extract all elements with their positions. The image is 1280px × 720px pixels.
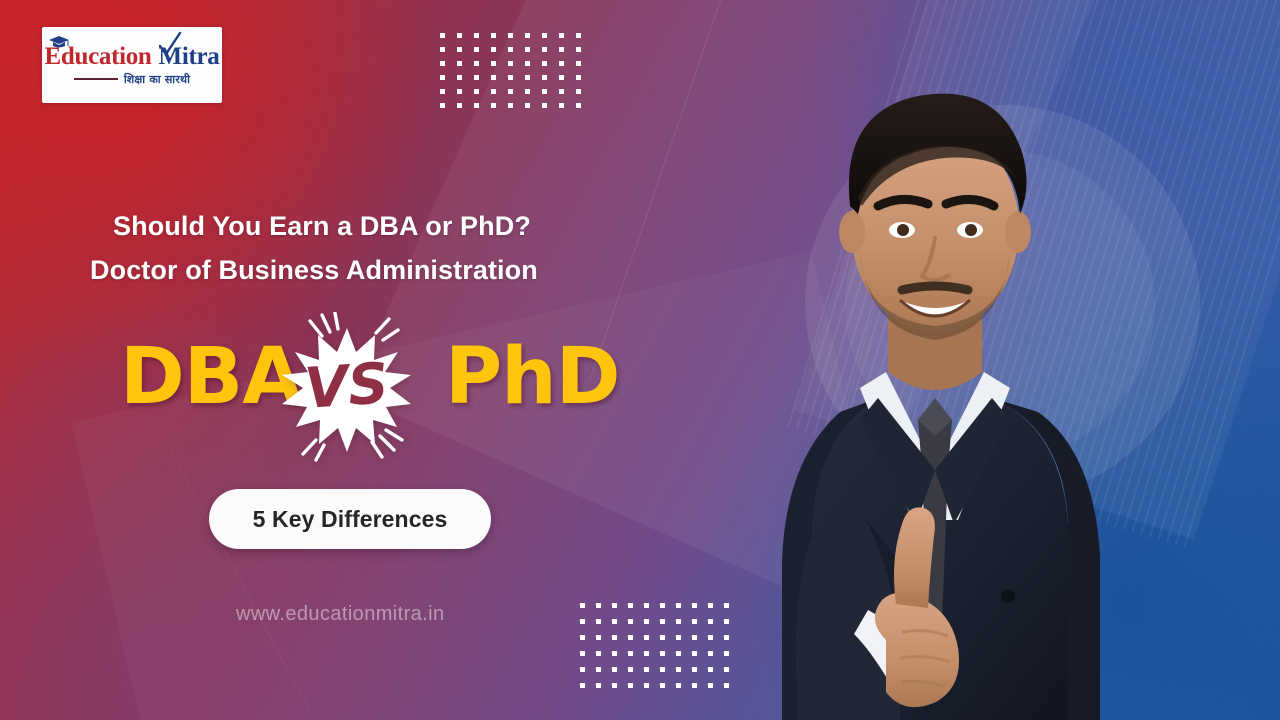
grid-dot (508, 33, 513, 38)
grid-dot (440, 33, 445, 38)
grid-dot (660, 683, 665, 688)
grid-dot (525, 47, 530, 52)
grid-dot (491, 61, 496, 66)
grid-dot (628, 619, 633, 624)
grid-dot (525, 61, 530, 66)
background-line-c (166, 441, 336, 720)
grid-dot (596, 651, 601, 656)
vs-text: VS (303, 351, 391, 422)
grid-dot (612, 683, 617, 688)
grid-dot (474, 47, 479, 52)
grid-dot (542, 89, 547, 94)
grid-dot (474, 33, 479, 38)
grid-dot (440, 103, 445, 108)
grid-dot (559, 89, 564, 94)
website-url[interactable]: www.educationmitra.in (236, 603, 445, 626)
grid-dot (676, 603, 681, 608)
grid-dot (644, 635, 649, 640)
grid-dot (596, 683, 601, 688)
grid-dot (644, 651, 649, 656)
grid-dot (457, 103, 462, 108)
grid-dot (660, 635, 665, 640)
grid-dot (580, 651, 585, 656)
grid-dot (612, 651, 617, 656)
grid-dot (612, 603, 617, 608)
versus-right-label: PhD (445, 338, 619, 416)
grid-dot (676, 651, 681, 656)
grid-dot (628, 603, 633, 608)
grid-dot (457, 33, 462, 38)
grid-dot (491, 103, 496, 108)
grid-dot (474, 61, 479, 66)
grid-dot (644, 683, 649, 688)
grid-dot (580, 635, 585, 640)
grid-dot (559, 33, 564, 38)
versus-block: DBA VS PhD (120, 330, 590, 450)
grid-dot (580, 683, 585, 688)
grid-dot (644, 667, 649, 672)
logo-tagline: शिक्षा का सारथी (74, 72, 190, 87)
grid-dot (525, 75, 530, 80)
grid-dot (576, 61, 581, 66)
grid-dot (596, 603, 601, 608)
grid-dot (508, 61, 513, 66)
grid-dot (508, 47, 513, 52)
grid-dot (596, 667, 601, 672)
grid-dot (580, 619, 585, 624)
grid-dot (596, 635, 601, 640)
grid-dot (676, 667, 681, 672)
grid-dot (676, 683, 681, 688)
grid-dot (474, 103, 479, 108)
grid-dot (542, 103, 547, 108)
grid-dot (628, 635, 633, 640)
grid-dot (542, 47, 547, 52)
headline-block: Should You Earn a DBA or PhD? Doctor of … (90, 205, 710, 292)
grid-dot (576, 47, 581, 52)
logo-divider (74, 78, 118, 80)
grid-dot (628, 683, 633, 688)
logo-text-mitra: Mitra (159, 44, 220, 69)
businessman-photo (690, 0, 1280, 720)
key-differences-label: 5 Key Differences (253, 506, 448, 533)
grid-dot (508, 103, 513, 108)
grid-dot (525, 103, 530, 108)
headline-line-2: Doctor of Business Administration (90, 249, 710, 293)
check-mark-icon (157, 31, 183, 57)
grid-dot (491, 75, 496, 80)
brand-logo[interactable]: Education Mitra शिक्षा का सारथी (42, 27, 222, 103)
grid-dot (644, 603, 649, 608)
logo-tagline-text: शिक्षा का सारथी (124, 72, 190, 87)
grid-dot (491, 33, 496, 38)
grid-dot (580, 603, 585, 608)
grid-dot (559, 61, 564, 66)
grid-dot (559, 103, 564, 108)
promo-banner: Education Mitra शिक्षा का सारथी Should Y… (0, 0, 1280, 720)
grid-dot (644, 619, 649, 624)
grid-dot (628, 651, 633, 656)
grid-dot (440, 75, 445, 80)
grid-dot (676, 619, 681, 624)
logo-wordmark: Education Mitra (44, 44, 219, 69)
grid-dot (457, 61, 462, 66)
grid-dot (457, 47, 462, 52)
grid-dot (559, 75, 564, 80)
grid-dot (612, 619, 617, 624)
grid-dot (542, 33, 547, 38)
grid-dot (508, 89, 513, 94)
headline-line-1: Should You Earn a DBA or PhD? (90, 205, 710, 249)
grid-dot (576, 103, 581, 108)
grid-dot (628, 667, 633, 672)
grid-dot (542, 75, 547, 80)
grid-dot (542, 61, 547, 66)
grid-dot (660, 619, 665, 624)
grid-dot (660, 651, 665, 656)
grid-dot (440, 89, 445, 94)
grid-dot (474, 89, 479, 94)
grid-dot (612, 667, 617, 672)
grid-dot (525, 89, 530, 94)
grid-dot (612, 635, 617, 640)
grid-dot (676, 635, 681, 640)
grid-dot (491, 89, 496, 94)
grid-dot (576, 75, 581, 80)
grid-dot (576, 33, 581, 38)
grid-dot (457, 89, 462, 94)
grid-dot (525, 33, 530, 38)
grid-dot (559, 47, 564, 52)
grid-dot (440, 61, 445, 66)
graduation-cap-icon (48, 35, 70, 50)
grid-dot (660, 603, 665, 608)
grid-dot (580, 667, 585, 672)
grid-dot (576, 89, 581, 94)
dot-grid-top (440, 33, 593, 117)
grid-dot (440, 47, 445, 52)
grid-dot (660, 667, 665, 672)
key-differences-badge[interactable]: 5 Key Differences (209, 489, 491, 549)
grid-dot (457, 75, 462, 80)
grid-dot (508, 75, 513, 80)
grid-dot (474, 75, 479, 80)
grid-dot (596, 619, 601, 624)
grid-dot (491, 47, 496, 52)
vs-starburst-icon: VS (272, 312, 422, 462)
